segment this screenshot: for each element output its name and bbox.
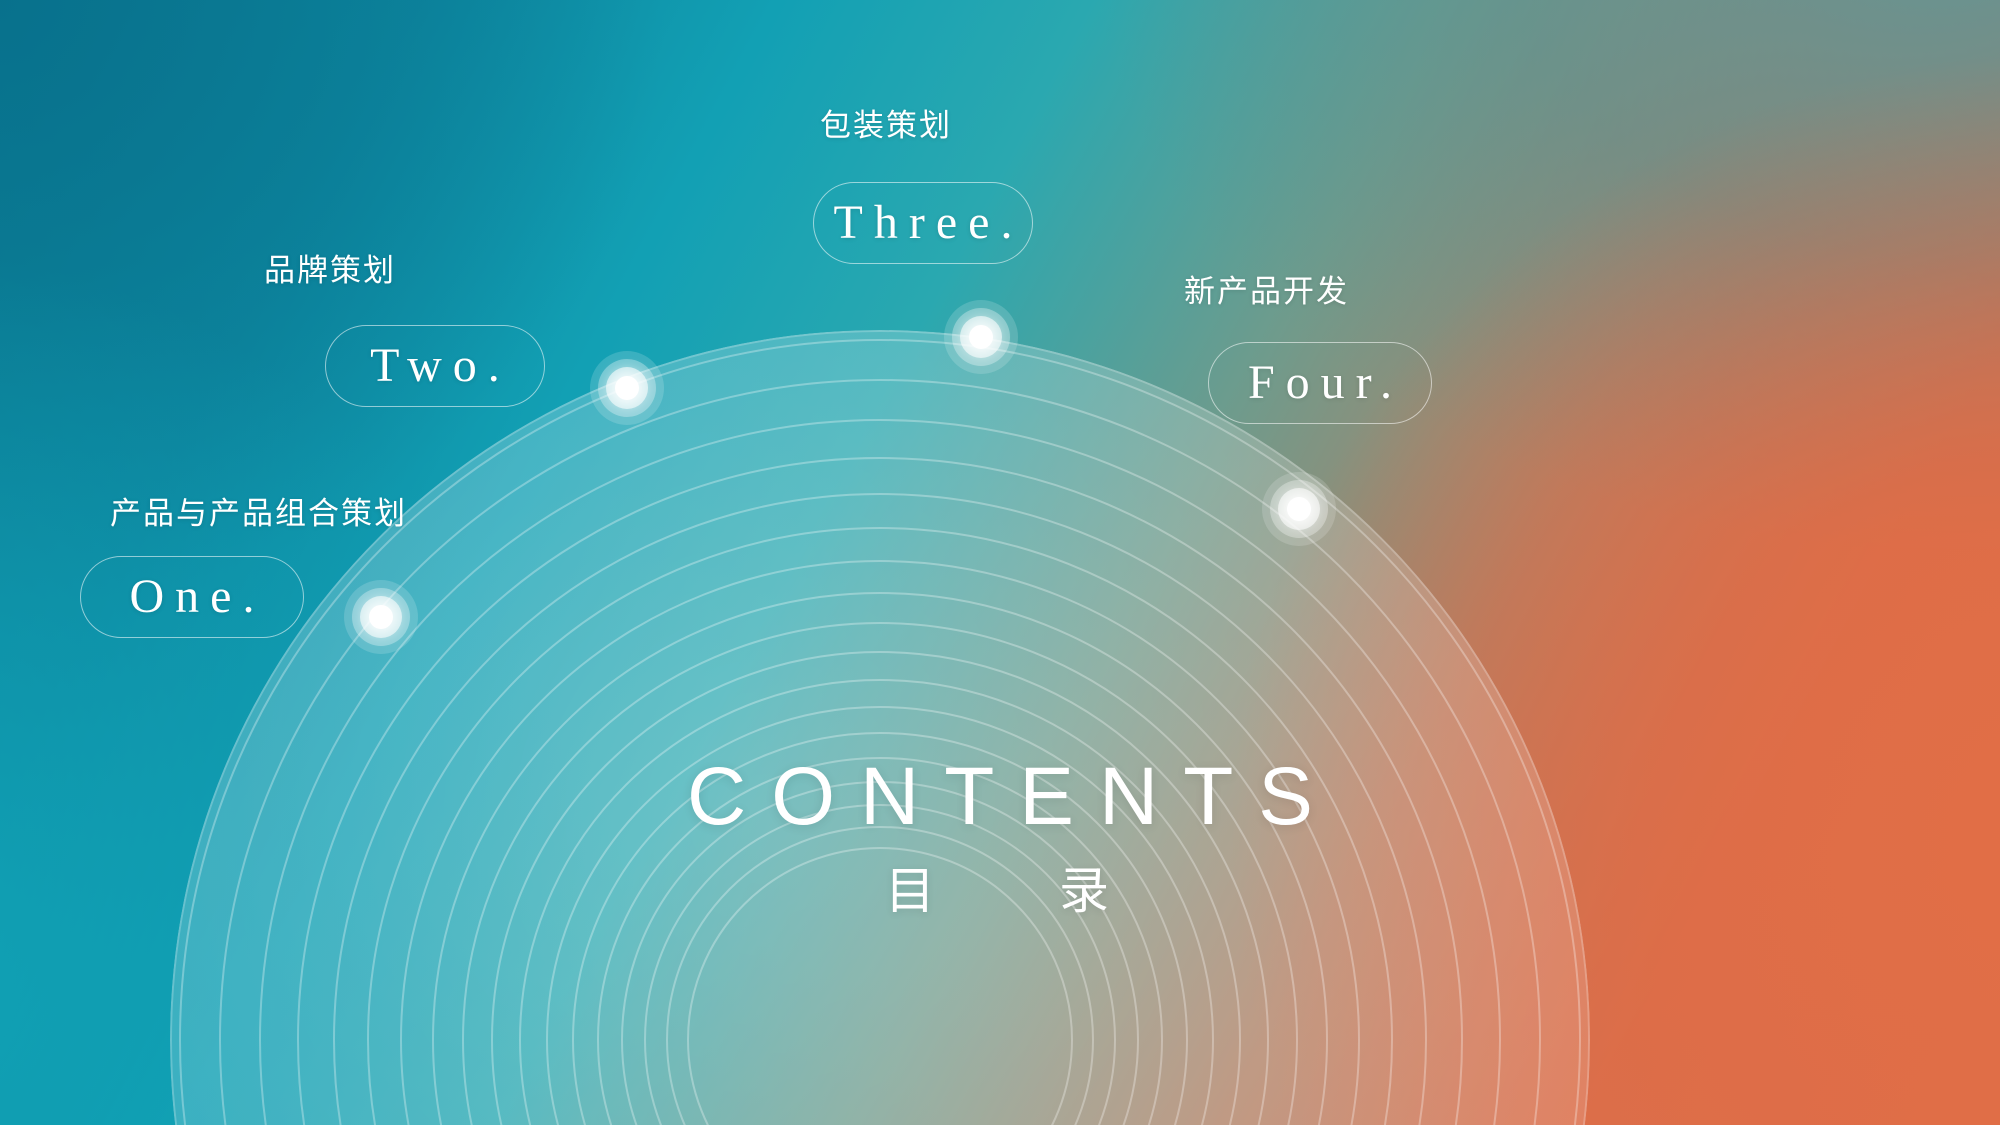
glow-core [369, 605, 393, 629]
agenda-item-label-4: 新产品开发 [1184, 266, 1349, 311]
agenda-number-pill-4[interactable]: Four. [1208, 342, 1432, 424]
agenda-item-label-1: 产品与产品组合策划 [110, 488, 407, 533]
agenda-number-pill-1[interactable]: One. [80, 556, 304, 638]
agenda-number-pill-2[interactable]: Two. [325, 325, 545, 407]
agenda-number-label-4: Four. [1237, 359, 1403, 407]
agenda-item-label-3: 包装策划 [820, 100, 952, 145]
glow-core [969, 325, 993, 349]
agenda-number-label-2: Two. [359, 342, 511, 390]
agenda-number-pill-3[interactable]: Three. [813, 182, 1033, 264]
slide-canvas: 产品与产品组合策划One.品牌策划Two.包装策划Three.新产品开发Four… [0, 0, 2000, 1125]
agenda-number-label-1: One. [119, 573, 266, 621]
agenda-item-label-2: 品牌策划 [264, 245, 396, 290]
agenda-number-label-3: Three. [823, 199, 1024, 247]
glow-core [1287, 497, 1311, 521]
decorative-sphere [170, 330, 1590, 1125]
glow-core [615, 376, 639, 400]
